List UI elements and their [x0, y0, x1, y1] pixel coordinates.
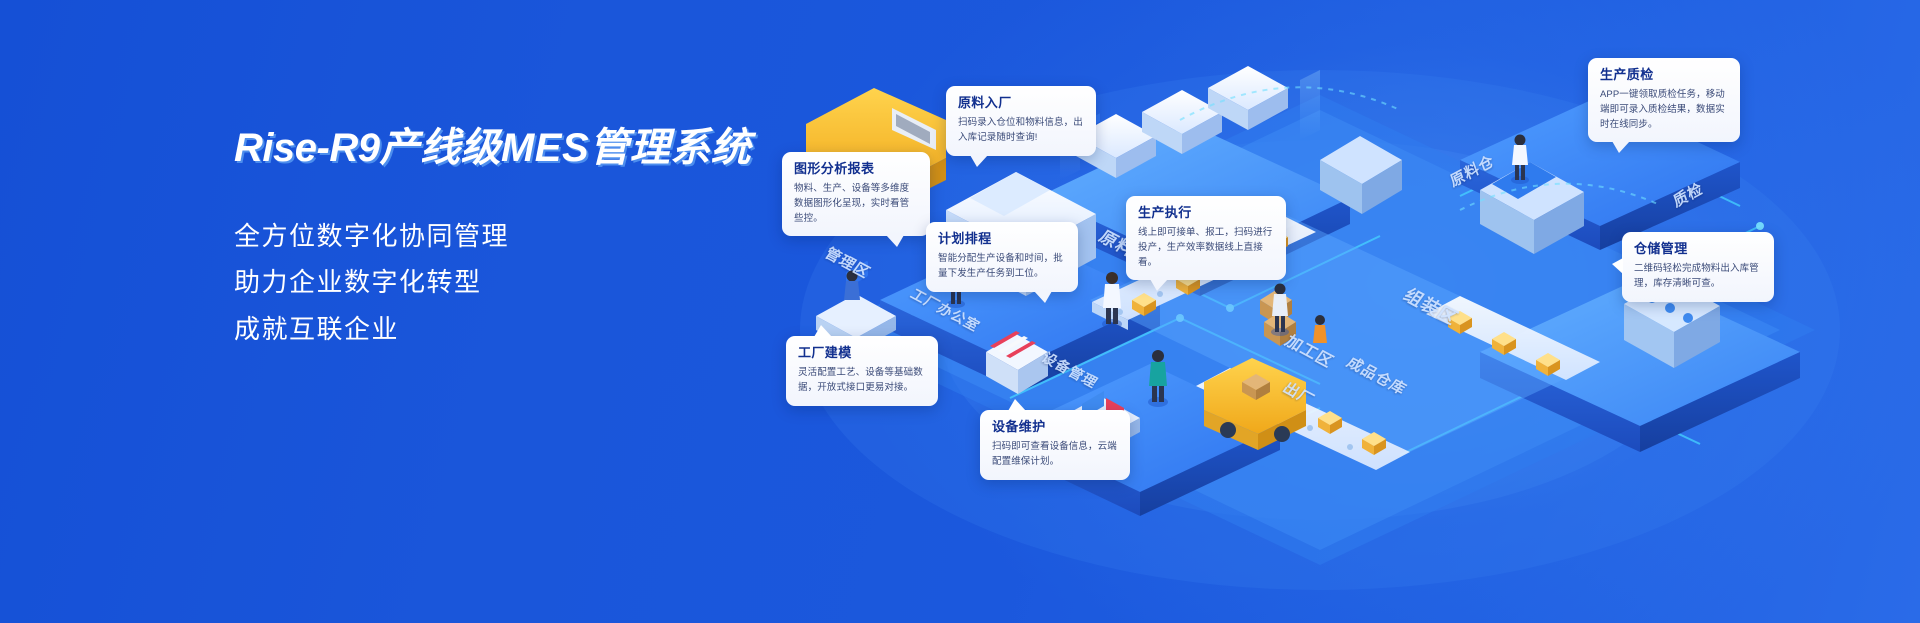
callout-tail — [1150, 279, 1168, 291]
callout-description: 扫码录入仓位和物料信息，出入库记录随时查询! — [958, 116, 1084, 145]
callout-description: 扫码即可查看设备信息，云端配置维保计划。 — [992, 440, 1118, 469]
callout-description: 线上即可接单、报工，扫码进行投产，生产效率数据线上直接看。 — [1138, 226, 1274, 270]
callout-title: 生产执行 — [1138, 205, 1274, 221]
callout-factory-modeling[interactable]: 工厂建模 灵活配置工艺、设备等基础数据，开放式接口更易对接。 — [786, 336, 938, 406]
callout-tail — [1008, 399, 1026, 411]
callout-warehouse-management[interactable]: 仓储管理 二维码轻松完成物料出入库管理，库存清晰可查。 — [1622, 232, 1774, 302]
callout-title: 原料入厂 — [958, 95, 1084, 111]
callout-planning-scheduling[interactable]: 计划排程 智能分配生产设备和时间，批量下发生产任务到工位。 — [926, 222, 1078, 292]
callout-production-execution[interactable]: 生产执行 线上即可接单、报工，扫码进行投产，生产效率数据线上直接看。 — [1126, 196, 1286, 280]
callout-title: 工厂建模 — [798, 345, 926, 361]
hero-subtitle-list: 全方位数字化协同管理 助力企业数字化转型 成就互联企业 — [234, 213, 854, 352]
callout-description: APP一键领取质检任务，移动端即可录入质检结果，数据实时在线同步。 — [1600, 88, 1728, 132]
callout-description: 灵活配置工艺、设备等基础数据，开放式接口更易对接。 — [798, 366, 926, 395]
callout-title: 设备维护 — [992, 419, 1118, 435]
callout-tail — [970, 155, 988, 167]
callout-title: 仓储管理 — [1634, 241, 1762, 257]
callout-title: 图形分析报表 — [794, 161, 918, 177]
callout-tail — [1612, 258, 1623, 274]
headline-subject: 产线级MES管理系统 — [379, 126, 751, 170]
page-title: Rise-R9产线级MES管理系统 — [234, 125, 854, 171]
callout-raw-material-inbound[interactable]: 原料入厂 扫码录入仓位和物料信息，出入库记录随时查询! — [946, 86, 1096, 156]
callout-description: 智能分配生产设备和时间，批量下发生产任务到工位。 — [938, 252, 1066, 281]
callout-tail — [814, 325, 832, 337]
hero-subtitle-2: 助力企业数字化转型 — [234, 259, 854, 305]
callout-description: 物料、生产、设备等多维度数据图形化呈现，实时看管些控。 — [794, 182, 918, 226]
callout-tail — [1612, 141, 1630, 153]
callout-title: 生产质检 — [1600, 67, 1728, 83]
callout-tail — [1034, 291, 1052, 303]
hero-subtitle-1: 全方位数字化协同管理 — [234, 213, 854, 259]
hero-subtitle-3: 成就互联企业 — [234, 306, 854, 352]
callout-graphic-analysis-report[interactable]: 图形分析报表 物料、生产、设备等多维度数据图形化呈现，实时看管些控。 — [782, 152, 930, 236]
callout-tail — [886, 235, 904, 247]
headline-product-name: Rise-R9 — [234, 126, 379, 170]
callout-production-quality-inspection[interactable]: 生产质检 APP一键领取质检任务，移动端即可录入质检结果，数据实时在线同步。 — [1588, 58, 1740, 142]
hero-banner: 原料仓 质检 管理区 工厂办公室 原料仓库 组装区 加工区 设备管理 出厂 成品… — [0, 0, 1920, 623]
callout-description: 二维码轻松完成物料出入库管理，库存清晰可查。 — [1634, 262, 1762, 291]
callout-title: 计划排程 — [938, 231, 1066, 247]
callout-equipment-maintenance[interactable]: 设备维护 扫码即可查看设备信息，云端配置维保计划。 — [980, 410, 1130, 480]
hero-copy: Rise-R9产线级MES管理系统 全方位数字化协同管理 助力企业数字化转型 成… — [234, 125, 854, 352]
